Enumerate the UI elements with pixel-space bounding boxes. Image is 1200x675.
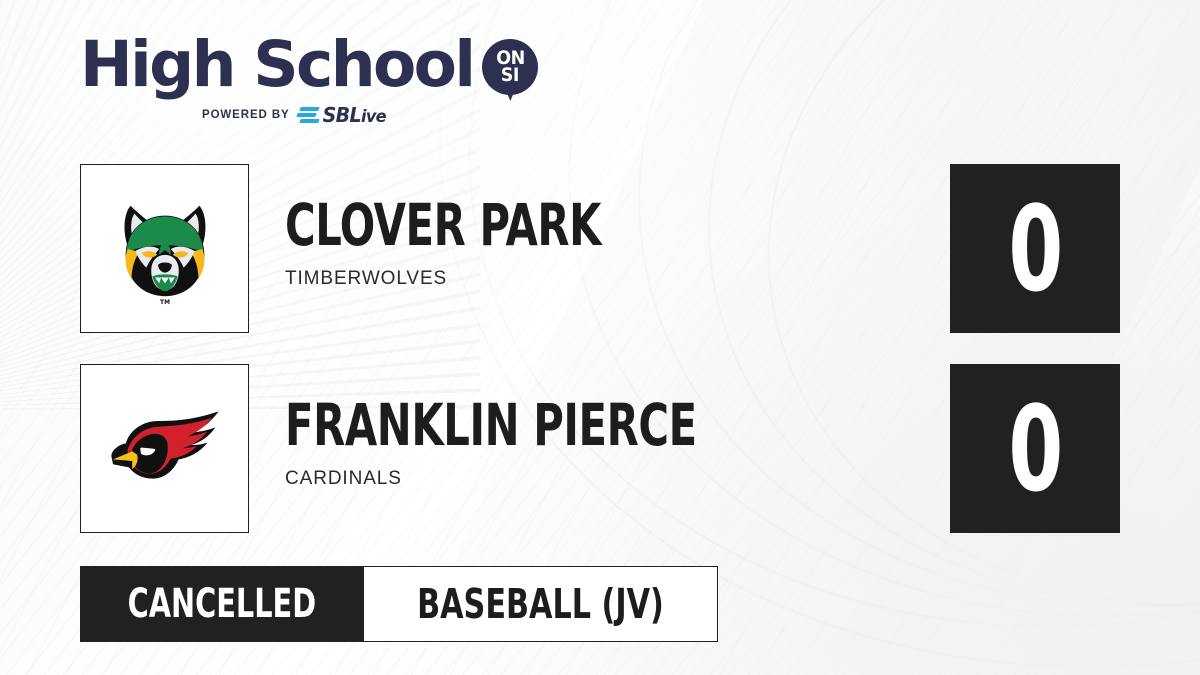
status-state-label: CANCELLED [128, 584, 317, 624]
scoreboard-graphic: High School ON SI POWERED BY SBLive [0, 0, 1200, 675]
team-text-block: FRANKLIN PIERCE CARDINALS [285, 396, 800, 490]
powered-by-label: POWERED BY [202, 109, 290, 121]
sblive-wordmark: SBLive [322, 103, 385, 127]
sblive-word-upper: SBL [322, 103, 360, 127]
on-si-pin-icon: ON SI [482, 39, 510, 95]
team-score: 0 [1008, 390, 1062, 508]
team-logo-box: TM [80, 164, 249, 333]
powered-by-row: POWERED BY SBLive [202, 103, 510, 127]
team-score-box: 0 [950, 364, 1120, 533]
team-text-block: CLOVER PARK TIMBERWOLVES [285, 196, 680, 290]
team-mascot: TIMBERWOLVES [285, 268, 680, 290]
status-badge: CANCELLED [80, 566, 364, 642]
team-score: 0 [1008, 190, 1062, 308]
brand-wordmark: High School [80, 34, 473, 96]
team-mascot: CARDINALS [285, 468, 800, 490]
team-name: FRANKLIN PIERCE [285, 396, 697, 454]
sport-label-panel: BASEBALL (JV) [364, 566, 718, 642]
game-status-bar: CANCELLED BASEBALL (JV) [80, 566, 718, 642]
team-score-box: 0 [950, 164, 1120, 333]
pin-label-si: SI [501, 67, 519, 84]
team-name: CLOVER PARK [285, 196, 601, 254]
brand-masthead: High School ON SI POWERED BY SBLive [80, 34, 510, 138]
sblive-logo: SBLive [297, 103, 388, 127]
team-row: FRANKLIN PIERCE CARDINALS 0 [80, 364, 1120, 536]
brand-logo: High School ON SI [80, 34, 510, 96]
sblive-word-lower: ive [361, 107, 386, 127]
team-row: TM CLOVER PARK TIMBERWOLVES 0 [80, 164, 1120, 336]
team-logo-box [80, 364, 249, 533]
timberwolf-head-logo: TM [106, 190, 224, 308]
svg-text:TM: TM [160, 300, 170, 306]
cardinal-head-logo [105, 401, 225, 497]
sport-label: BASEBALL (JV) [417, 584, 664, 625]
sblive-s-mark-icon [297, 107, 320, 124]
